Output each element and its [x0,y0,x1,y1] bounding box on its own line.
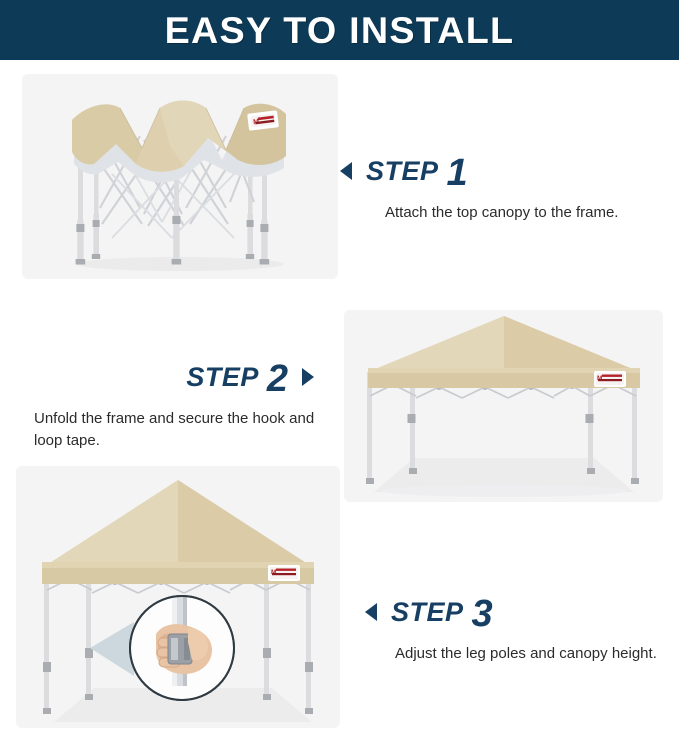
triangle-left-icon [340,162,352,180]
step-3-image-panel: M [16,466,340,728]
page-title: EASY TO INSTALL [165,12,515,49]
step-3-description: Adjust the leg poles and canopy height. [395,643,675,665]
magnifier-cone [90,622,134,676]
triangle-right-icon [302,368,314,386]
header-banner: EASY TO INSTALL [0,0,679,60]
canopy-fully-unfolded-illustration: M [344,310,663,502]
magnifier-callout [124,576,240,700]
step-3-word: STEP [391,599,464,626]
step-1-text: STEP 1 Attach the top canopy to the fram… [340,152,670,224]
step-1-description: Attach the top canopy to the frame. [385,202,670,224]
step-2-heading: STEP 2 [10,358,340,396]
step-1-word: STEP [366,158,439,185]
step-3-text: STEP 3 Adjust the leg poles and canopy h… [365,593,675,665]
step-1-image-panel: M [22,74,338,279]
step-3-heading: STEP 3 [365,593,675,631]
brand-logo-patch: M [594,371,626,387]
step-2-description: Unfold the frame and secure the hook and… [34,408,334,452]
step-3-number: 3 [472,595,493,633]
step-2-number: 2 [267,360,288,398]
step-1-heading: STEP 1 [340,152,670,190]
canopy-leg-height-adjust-illustration: M [16,466,340,728]
brand-logo-patch: M [268,565,300,581]
step-1-number: 1 [447,154,468,192]
triangle-left-icon [365,603,377,621]
step-2-word: STEP [186,364,259,391]
step-2-image-panel: M [344,310,663,502]
step-2-text: STEP 2 Unfold the frame and secure the h… [10,358,340,452]
canopy-frame-with-draped-top-illustration: M [22,74,338,279]
brand-logo-patch: M [247,110,279,131]
